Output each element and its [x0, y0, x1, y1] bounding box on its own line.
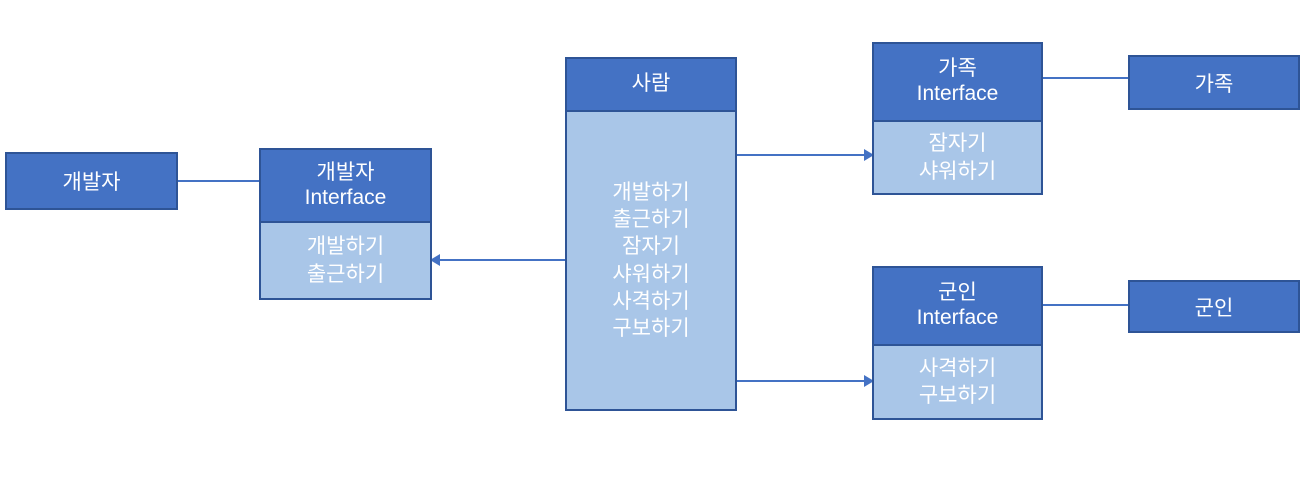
- method-item: 구보하기: [919, 382, 996, 409]
- method-item: 개발하기: [307, 233, 384, 260]
- node-soldier-interface[interactable]: 군인 Interface 사격하기 구보하기: [872, 266, 1043, 420]
- node-soldier-interface-header: 군인 Interface: [874, 268, 1041, 344]
- node-developer-interface-methods: 개발하기 출근하기: [261, 221, 430, 298]
- node-person-class-methods: 개발하기 출근하기 잠자기 샤워하기 사격하기 구보하기: [567, 110, 735, 409]
- node-soldier-interface-title: 군인: [938, 281, 977, 306]
- connector-soldier-interface-to-soldier-class: [1041, 304, 1130, 306]
- arrow-line-person-to-family-interface: [735, 154, 872, 156]
- node-family-interface-header: 가족 Interface: [874, 44, 1041, 120]
- node-person-class-header: 사람: [567, 59, 735, 110]
- method-item: 잠자기: [622, 233, 680, 260]
- method-item: 출근하기: [307, 261, 384, 288]
- node-person-class-title: 사람: [632, 72, 671, 97]
- method-item: 사격하기: [919, 355, 996, 382]
- connector-family-interface-to-family-class: [1041, 77, 1130, 79]
- node-developer-class-label: 개발자: [63, 166, 121, 196]
- node-soldier-class-label: 군인: [1195, 292, 1234, 322]
- method-item: 구보하기: [612, 315, 689, 342]
- node-family-class[interactable]: 가족: [1128, 55, 1300, 110]
- arrow-line-person-to-developer-interface: [432, 259, 566, 261]
- node-developer-class[interactable]: 개발자: [5, 152, 178, 210]
- node-soldier-interface-subtitle: Interface: [917, 306, 999, 331]
- node-family-class-label: 가족: [1195, 68, 1234, 98]
- node-developer-interface-header: 개발자 Interface: [261, 150, 430, 221]
- node-person-class[interactable]: 사람 개발하기 출근하기 잠자기 샤워하기 사격하기 구보하기: [565, 57, 737, 411]
- node-soldier-class[interactable]: 군인: [1128, 280, 1300, 333]
- method-item: 사격하기: [612, 288, 689, 315]
- method-item: 샤워하기: [612, 261, 689, 288]
- method-item: 잠자기: [929, 130, 987, 157]
- node-family-interface-title: 가족: [938, 57, 977, 82]
- method-item: 개발하기: [612, 179, 689, 206]
- node-developer-interface-title: 개발자: [317, 161, 375, 186]
- node-family-interface[interactable]: 가족 Interface 잠자기 샤워하기: [872, 42, 1043, 195]
- node-soldier-interface-methods: 사격하기 구보하기: [874, 344, 1041, 418]
- method-item: 샤워하기: [919, 158, 996, 185]
- node-developer-interface[interactable]: 개발자 Interface 개발하기 출근하기: [259, 148, 432, 300]
- node-family-interface-subtitle: Interface: [917, 82, 999, 107]
- method-item: 출근하기: [612, 206, 689, 233]
- arrow-line-person-to-soldier-interface: [735, 380, 872, 382]
- diagram-canvas: 개발자 개발자 Interface 개발하기 출근하기 사람 개발하기 출근하기…: [0, 0, 1305, 494]
- node-developer-interface-subtitle: Interface: [305, 186, 387, 211]
- node-family-interface-methods: 잠자기 샤워하기: [874, 120, 1041, 193]
- connector-developer-class-to-developer-interface: [176, 180, 261, 182]
